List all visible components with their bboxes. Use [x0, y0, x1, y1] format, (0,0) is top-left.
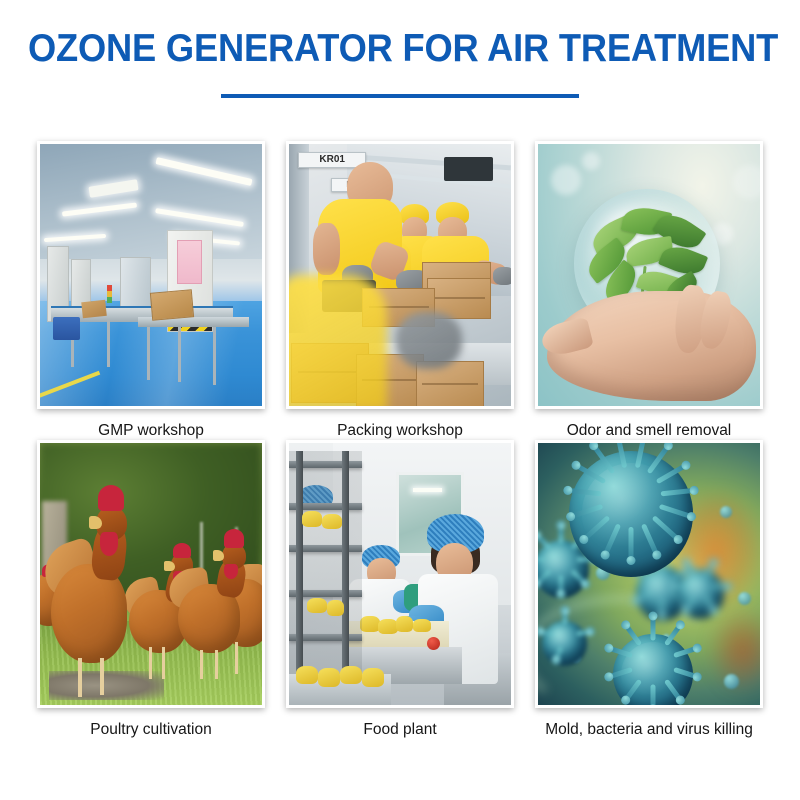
photo-poultry-cultivation[interactable] [37, 440, 265, 708]
photo-packing-workshop[interactable]: KR01 KR02 [286, 141, 514, 409]
caption-food-plant: Food plant [286, 708, 514, 739]
caption-odor-removal: Odor and smell removal [521, 409, 777, 440]
photo-food-plant[interactable] [286, 440, 514, 708]
caption-poultry-cultivation: Poultry cultivation [37, 708, 265, 739]
poster-page: OZONE GENERATOR FOR AIR TREATMENT [0, 0, 800, 800]
cleanroom-illustration [40, 144, 262, 406]
gallery-item-poultry-cultivation[interactable]: Poultry cultivation [37, 440, 265, 739]
poster-header: OZONE GENERATOR FOR AIR TREATMENT [0, 0, 800, 120]
gallery-item-gmp-workshop[interactable]: GMP workshop [37, 141, 265, 440]
caption-packing-workshop: Packing workshop [286, 409, 514, 440]
caption-virus-killing: Mold, bacteria and virus killing [521, 708, 777, 739]
gallery-item-food-plant[interactable]: Food plant [286, 440, 514, 739]
virion-primary [569, 451, 693, 577]
virion-background [542, 621, 586, 666]
photo-virus-killing[interactable] [535, 440, 763, 708]
caption-gmp-workshop: GMP workshop [37, 409, 265, 440]
photo-gmp-workshop[interactable] [37, 141, 265, 409]
title-divider [221, 94, 579, 98]
food-factory-illustration [289, 443, 511, 705]
poultry-illustration [40, 443, 262, 705]
eco-sphere-illustration [538, 144, 760, 406]
gallery-item-odor-removal[interactable]: Odor and smell removal [535, 141, 763, 440]
feature-gallery: GMP workshop KR01 KR02 [37, 141, 763, 739]
gallery-item-packing-workshop[interactable]: KR01 KR02 [286, 141, 514, 440]
virion-background [676, 569, 725, 619]
packing-line-illustration: KR01 KR02 [289, 144, 511, 406]
gallery-item-virus-killing[interactable]: Mold, bacteria and virus killing [535, 440, 763, 739]
virus-illustration [538, 443, 760, 705]
page-title: OZONE GENERATOR FOR AIR TREATMENT [28, 27, 772, 71]
photo-odor-removal[interactable] [535, 141, 763, 409]
